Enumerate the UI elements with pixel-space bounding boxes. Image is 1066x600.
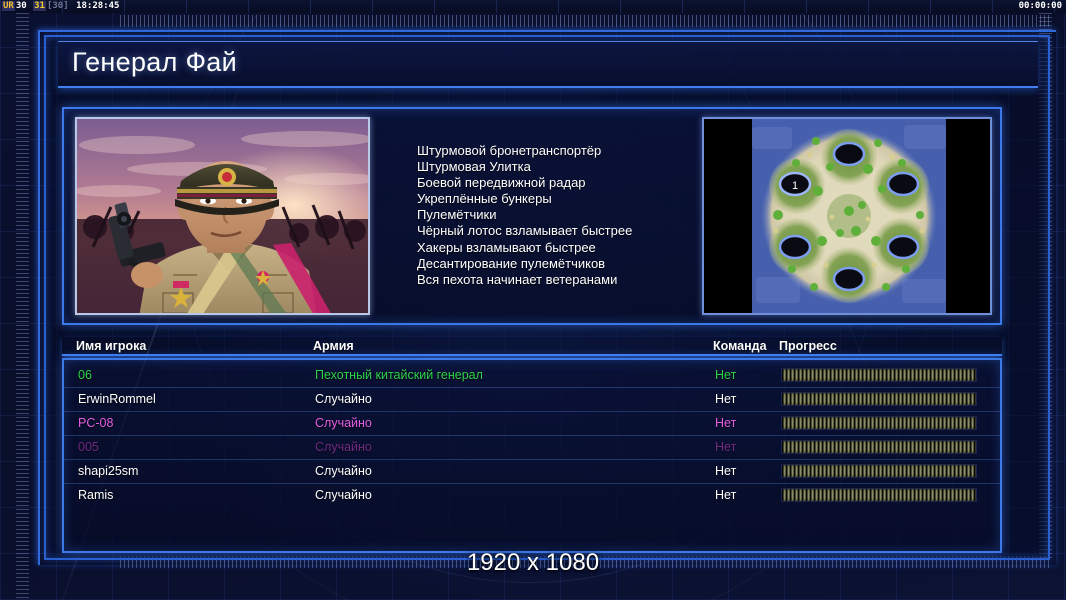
- ability-item: Хакеры взламывают быстрее: [417, 240, 697, 256]
- player-name: 005: [78, 440, 99, 454]
- player-team[interactable]: Нет: [715, 368, 736, 382]
- ability-item: Десантирование пулемётчиков: [417, 256, 697, 272]
- map-image: 1: [752, 119, 946, 313]
- player-name: PC-08: [78, 416, 113, 430]
- player-name: shapi25sm: [78, 464, 138, 478]
- table-row[interactable]: PC-08 Случайно Нет: [64, 412, 1000, 436]
- player-table-header: Имя игрока Армия Команда Прогресс: [62, 337, 1002, 356]
- general-portrait: [75, 117, 370, 315]
- header-army: Армия: [313, 339, 354, 353]
- table-row[interactable]: ErwinRommel Случайно Нет: [64, 388, 1000, 412]
- player-progress-bar: [781, 440, 977, 454]
- player-name: 06: [78, 368, 92, 382]
- player-team[interactable]: Нет: [715, 488, 736, 502]
- ability-item: Пулемётчики: [417, 207, 697, 223]
- table-row[interactable]: 06 Пехотный китайский генерал Нет: [64, 364, 1000, 388]
- header-team: Команда: [713, 339, 767, 353]
- header-progress: Прогресс: [779, 339, 837, 353]
- table-row[interactable]: shapi25sm Случайно Нет: [64, 460, 1000, 484]
- topbar-value1: 30: [15, 1, 28, 11]
- resolution-overlay: 1920 x 1080: [0, 549, 1066, 577]
- player-progress-bar: [781, 464, 977, 478]
- player-army[interactable]: Случайно: [315, 440, 372, 454]
- player-team[interactable]: Нет: [715, 440, 736, 454]
- player-team[interactable]: Нет: [715, 416, 736, 430]
- player-progress-bar: [781, 416, 977, 430]
- topbar-label: UR: [2, 1, 15, 11]
- player-table: 06 Пехотный китайский генерал Нет ErwinR…: [62, 358, 1002, 553]
- player-army[interactable]: Случайно: [315, 488, 372, 502]
- player-team[interactable]: Нет: [715, 464, 736, 478]
- player-name: Ramis: [78, 488, 113, 502]
- ability-item: Вся пехота начинает ветеранами: [417, 272, 697, 288]
- header-player-name: Имя игрока: [76, 339, 146, 353]
- player-name: ErwinRommel: [78, 392, 156, 406]
- map-preview[interactable]: 1: [702, 117, 992, 315]
- page-title: Генерал Фай: [72, 47, 237, 78]
- ability-item: Штурмовая Улитка: [417, 159, 697, 175]
- table-row[interactable]: Ramis Случайно Нет: [64, 484, 1000, 508]
- ability-item: Чёрный лотос взламывает быстрее: [417, 223, 697, 239]
- svg-text:1: 1: [792, 180, 798, 192]
- topbar-timer: 00:00:00: [1019, 0, 1062, 13]
- ability-item: Боевой передвижной радар: [417, 175, 697, 191]
- ability-item: Укреплённые бункеры: [417, 191, 697, 207]
- player-army[interactable]: Случайно: [315, 392, 372, 406]
- player-army[interactable]: Случайно: [315, 464, 372, 478]
- player-progress-bar: [781, 392, 977, 406]
- table-row[interactable]: 005 Случайно Нет: [64, 436, 1000, 460]
- top-status-bar: UR30 31[30] 18:28:45 00:00:00: [0, 0, 1066, 13]
- topbar-clock: 18:28:45: [75, 1, 120, 11]
- player-progress-bar: [781, 488, 977, 502]
- top-status-left: UR30 31[30] 18:28:45: [2, 0, 120, 13]
- ability-item: Штурмовой бронетранспортёр: [417, 143, 697, 159]
- player-progress-bar: [781, 368, 977, 382]
- ruler-left: [16, 13, 29, 600]
- player-army[interactable]: Случайно: [315, 416, 372, 430]
- general-abilities-list: Штурмовой бронетранспортёр Штурмовая Ули…: [417, 143, 697, 288]
- ruler-top: [120, 15, 1050, 27]
- player-team[interactable]: Нет: [715, 392, 736, 406]
- topbar-value2: 31: [33, 1, 46, 11]
- topbar-bracket: [30]: [46, 1, 70, 11]
- player-army[interactable]: Пехотный китайский генерал: [315, 368, 483, 382]
